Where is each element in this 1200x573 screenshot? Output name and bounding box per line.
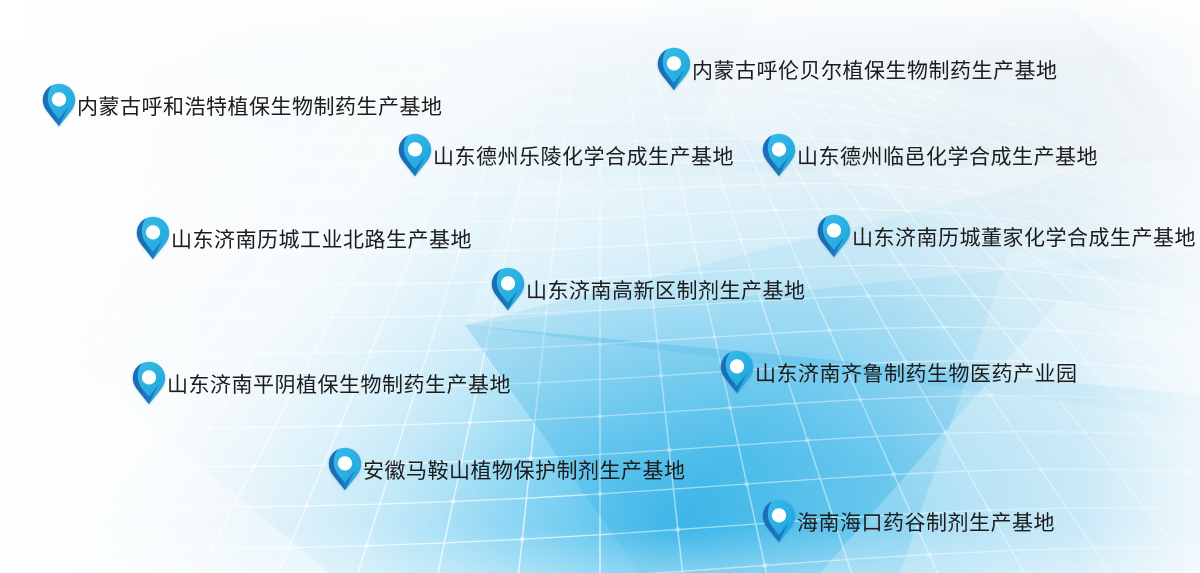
map-pin-icon[interactable]	[398, 133, 432, 177]
map-marker-label: 山东德州乐陵化学合成生产基地	[433, 143, 734, 168]
map-pin-icon[interactable]	[328, 447, 362, 491]
map-marker-shandong-dezhou-linyi[interactable]: 山东德州临邑化学合成生产基地	[762, 133, 1098, 177]
map-marker-label: 山东济南历城董家化学合成生产基地	[852, 224, 1196, 249]
map-marker-label: 山东济南平阴植保生物制药生产基地	[167, 371, 511, 396]
map-pin-icon[interactable]	[817, 214, 851, 258]
map-pin-icon[interactable]	[491, 267, 525, 311]
map-marker-label: 海南海口药谷制剂生产基地	[797, 509, 1055, 534]
map-marker-shandong-jinan-gaoxinqu[interactable]: 山东济南高新区制剂生产基地	[491, 267, 806, 311]
map-marker-anhui-maanshan[interactable]: 安徽马鞍山植物保护制剂生产基地	[328, 447, 686, 491]
map-pin-icon[interactable]	[762, 133, 796, 177]
map-marker-label: 山东济南高新区制剂生产基地	[526, 277, 806, 302]
map-marker-label: 山东德州临邑化学合成生产基地	[797, 143, 1098, 168]
map-marker-label: 内蒙古呼伦贝尔植保生物制药生产基地	[692, 57, 1058, 82]
map-marker-label: 内蒙古呼和浩特植保生物制药生产基地	[77, 93, 443, 118]
map-marker-label: 山东济南历城工业北路生产基地	[171, 226, 472, 251]
map-pin-icon[interactable]	[657, 47, 691, 91]
map-pin-icon[interactable]	[720, 350, 754, 394]
map-marker-neimenggu-hulunbeier[interactable]: 内蒙古呼伦贝尔植保生物制药生产基地	[657, 47, 1058, 91]
map-pin-icon[interactable]	[132, 361, 166, 405]
map-marker-hainan-haikou[interactable]: 海南海口药谷制剂生产基地	[762, 499, 1055, 543]
map-marker-neimenggu-huhehaote[interactable]: 内蒙古呼和浩特植保生物制药生产基地	[42, 83, 443, 127]
map-marker-shandong-jinan-licheng-dongjia[interactable]: 山东济南历城董家化学合成生产基地	[817, 214, 1196, 258]
map-marker-label: 山东济南齐鲁制药生物医药产业园	[755, 360, 1078, 385]
location-map-infographic: 内蒙古呼伦贝尔植保生物制药生产基地内蒙古呼和浩特植保生物制药生产基地山东德州乐陵…	[0, 0, 1200, 573]
map-marker-shandong-jinan-licheng-gongyebeilu[interactable]: 山东济南历城工业北路生产基地	[136, 216, 472, 260]
map-marker-shandong-dezhou-leling[interactable]: 山东德州乐陵化学合成生产基地	[398, 133, 734, 177]
map-pin-icon[interactable]	[136, 216, 170, 260]
map-marker-shandong-jinan-qilu-yiyao[interactable]: 山东济南齐鲁制药生物医药产业园	[720, 350, 1078, 394]
map-marker-shandong-jinan-pingyin[interactable]: 山东济南平阴植保生物制药生产基地	[132, 361, 511, 405]
map-pin-icon[interactable]	[762, 499, 796, 543]
map-marker-label: 安徽马鞍山植物保护制剂生产基地	[363, 457, 686, 482]
map-pin-icon[interactable]	[42, 83, 76, 127]
